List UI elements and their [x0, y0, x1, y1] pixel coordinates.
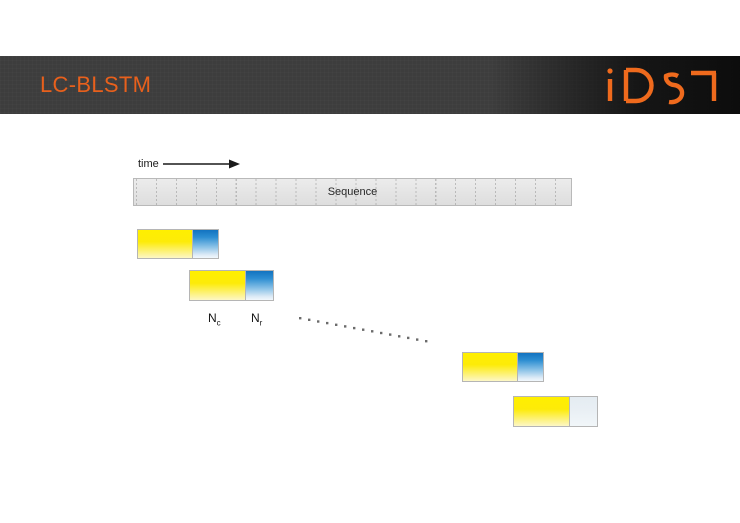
time-axis-label: time: [138, 159, 159, 170]
block-2-center-segment: [190, 271, 245, 300]
right-arrow-icon: [163, 158, 241, 170]
window-block-2: [189, 270, 274, 301]
label-nr-sub: r: [260, 318, 263, 327]
block-3-center-segment: [463, 353, 517, 381]
label-nc-sub: c: [217, 318, 221, 327]
slide-canvas: LC-BLSTM ti: [0, 0, 740, 523]
block-3-right-segment: [517, 353, 543, 381]
block-4-center-segment: [514, 397, 569, 426]
block-4-right-segment: [569, 397, 597, 426]
idst-logo: [606, 64, 718, 106]
page-title: LC-BLSTM: [40, 72, 151, 98]
label-nc: Nc: [208, 311, 221, 327]
block-1-right-segment: [192, 230, 218, 258]
label-nr-base: N: [251, 311, 260, 325]
block-2-right-segment: [245, 271, 273, 300]
sequence-label: Sequence: [134, 186, 571, 198]
window-block-3: [462, 352, 544, 382]
time-axis: time: [138, 155, 241, 173]
idst-logo-dot: [607, 68, 612, 73]
label-nr: Nr: [251, 311, 262, 327]
window-block-1: [137, 229, 219, 259]
window-block-4: [513, 396, 598, 427]
label-nc-base: N: [208, 311, 217, 325]
block-1-center-segment: [138, 230, 192, 258]
sequence-bar: Sequence: [133, 178, 572, 206]
